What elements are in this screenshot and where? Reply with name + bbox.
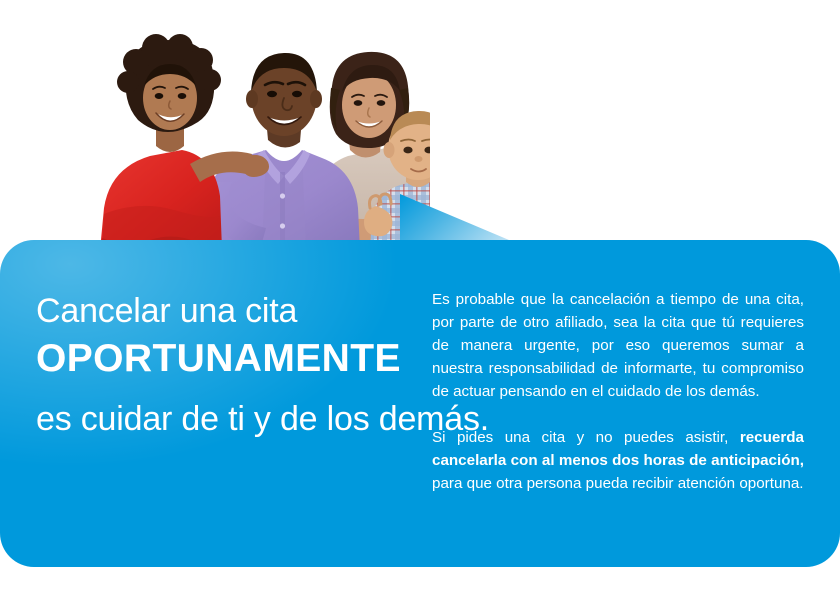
body-paragraph-2: Si pides una cita y no puedes asistir, r… — [432, 426, 804, 495]
paragraph-2-lead: Si pides una cita y no puedes asistir, — [432, 429, 740, 446]
headline-line-2-emphasis: OPORTUNAMENTE — [36, 334, 416, 384]
headline-line-3: es cuidar de ti y de los demás. — [36, 396, 416, 442]
family-photo-illustration — [70, 0, 450, 250]
blue-content-panel: Cancelar una cita OPORTUNAMENTE es cuida… — [0, 240, 840, 567]
headline-block: Cancelar una cita OPORTUNAMENTE es cuida… — [36, 288, 416, 442]
appointment-cancellation-banner: Cancelar una cita OPORTUNAMENTE es cuida… — [0, 0, 840, 595]
body-paragraph-1: Es probable que la cancelación a tiempo … — [432, 288, 804, 403]
paragraph-2-tail: para que otra persona pueda recibir aten… — [432, 475, 804, 492]
family-photo — [70, 0, 450, 250]
headline-line-1: Cancelar una cita — [36, 288, 416, 334]
body-text-block: Es probable que la cancelación a tiempo … — [432, 288, 804, 495]
